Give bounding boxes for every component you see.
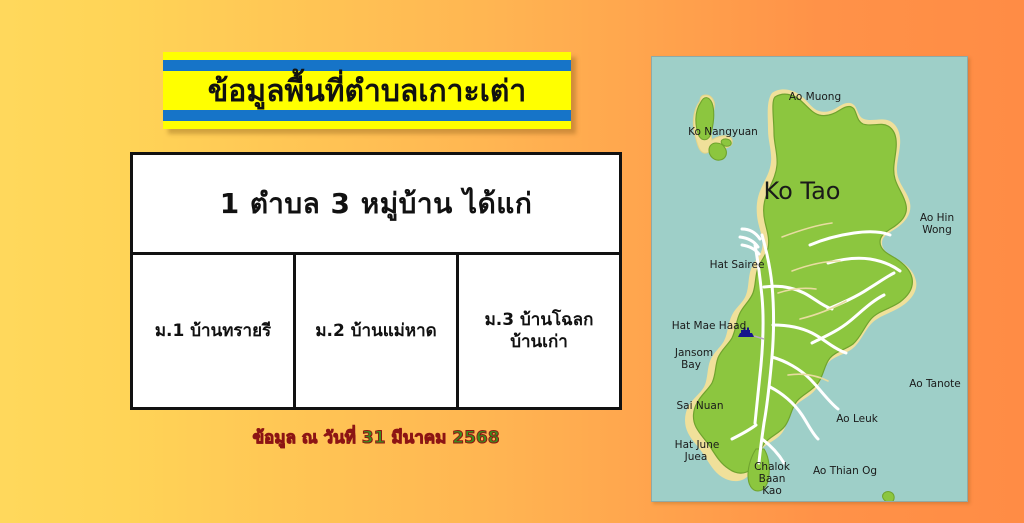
table-header-row: 1 ตำบล 3 หมู่บ้าน ได้แก่: [133, 155, 619, 255]
village-info-table: 1 ตำบล 3 หมู่บ้าน ได้แก่ ม.1 บ้านทรายรี …: [130, 152, 622, 410]
table-cell-village-3: ม.3 บ้านโฉลก บ้านเก่า: [459, 255, 619, 407]
village-2-label: ม.2 บ้านแม่หาด: [315, 320, 436, 342]
map-label-sai-nuan: Sai Nuan: [677, 400, 724, 412]
ko-tao-map: Ko Tao Ao Muong Ko Nangyuan Ao Hin Wong …: [651, 56, 968, 502]
map-label-hat-sairee: Hat Sairee: [710, 259, 765, 271]
title-banner: ข้อมูลพื้นที่ตำบลเกาะเต่า: [163, 52, 571, 129]
svg-text:Bay: Bay: [681, 359, 701, 371]
table-body-row: ม.1 บ้านทรายรี ม.2 บ้านแม่หาด ม.3 บ้านโฉ…: [133, 255, 619, 407]
map-label-hat-mae-haad: Hat Mae Haad: [672, 320, 747, 332]
map-island-label: Ko Tao: [764, 177, 841, 205]
map-graphic: Ko Tao Ao Muong Ko Nangyuan Ao Hin Wong …: [652, 57, 967, 501]
svg-text:Juea: Juea: [684, 451, 708, 463]
offshore-rock: [883, 492, 895, 501]
map-label-ao-hin-wong: Ao Hin Wong: [920, 212, 954, 236]
village-3-label: ม.3 บ้านโฉลก บ้านเก่า: [485, 309, 594, 353]
data-date-note: ข้อมูล ณ วันที่ 31 มีนาคม 2568: [130, 424, 622, 451]
map-label-ao-thian-og: Ao Thian Og: [813, 465, 877, 477]
svg-text:Wong: Wong: [922, 224, 952, 236]
map-label-ao-muong: Ao Muong: [789, 91, 841, 103]
svg-text:Hat June: Hat June: [675, 439, 720, 451]
table-cell-village-2: ม.2 บ้านแม่หาด: [296, 255, 459, 407]
village-1-label: ม.1 บ้านทรายรี: [155, 320, 271, 342]
map-label-ao-leuk: Ao Leuk: [836, 413, 879, 425]
svg-text:Chalok: Chalok: [754, 461, 791, 473]
page-title: ข้อมูลพื้นที่ตำบลเกาะเต่า: [163, 52, 571, 129]
map-label-ao-tanote: Ao Tanote: [909, 378, 961, 390]
svg-text:Baan: Baan: [759, 473, 786, 485]
table-header-label: 1 ตำบล 3 หมู่บ้าน ได้แก่: [220, 182, 533, 226]
map-label-ko-nangyuan: Ko Nangyuan: [688, 126, 758, 138]
table-cell-village-1: ม.1 บ้านทรายรี: [133, 255, 296, 407]
slide-canvas: ข้อมูลพื้นที่ตำบลเกาะเต่า 1 ตำบล 3 หมู่บ…: [0, 0, 1024, 523]
svg-text:Jansom: Jansom: [674, 347, 713, 359]
svg-text:Kao: Kao: [762, 485, 782, 497]
svg-text:Ao Hin: Ao Hin: [920, 212, 954, 224]
